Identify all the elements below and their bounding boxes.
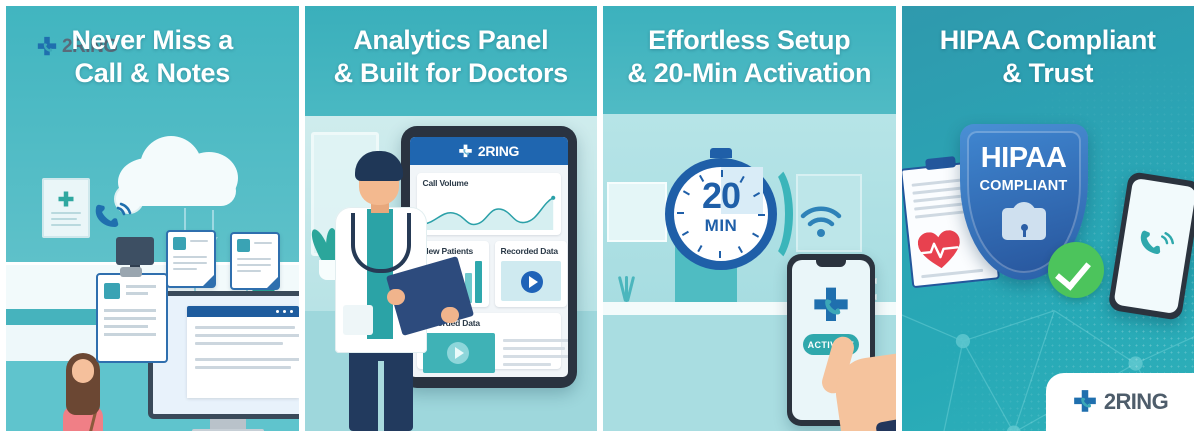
- panel-title-line1: HIPAA Compliant: [940, 25, 1156, 55]
- phone-ringing-icon: [1134, 226, 1177, 266]
- shield-subtitle: COMPLIANT: [960, 178, 1088, 194]
- ekg-line: [916, 229, 962, 271]
- feature-banner: 2RING: [0, 0, 1200, 437]
- footer-brand-badge: 2RING: [1046, 373, 1194, 431]
- green-check-icon: [1048, 242, 1104, 298]
- patient-record-clipboard: [96, 273, 168, 363]
- phone-ringing-icon: [92, 202, 132, 236]
- tablet-brand-text: 2RING: [478, 143, 519, 159]
- timer-value: 20: [665, 178, 777, 214]
- medical-cross-phone-icon: [1072, 389, 1098, 415]
- medical-cross-phone-icon: [458, 144, 473, 159]
- padlock-icon: [1002, 202, 1046, 240]
- patient-record-card: [166, 230, 216, 288]
- panel-hipaa-compliant: HIPAA COMPLIANT HIPAA Compliant & Trust …: [902, 6, 1195, 431]
- panel-title-line2: & Trust: [908, 57, 1189, 90]
- desk-monitor-icon: [116, 237, 154, 265]
- play-button-icon[interactable]: [521, 271, 543, 293]
- wall-poster-icon: [42, 178, 90, 238]
- panel-title-hipaa: HIPAA Compliant & Trust: [902, 24, 1195, 90]
- panel-title-effortless: Effortless Setup & 20-Min Activation: [603, 24, 896, 90]
- stopwatch-icon: 20 MIN: [665, 158, 777, 270]
- panel-title-line2: Call & Notes: [12, 57, 293, 90]
- panel-never-miss-a-call: 2RING: [6, 6, 299, 431]
- panel-effortless-setup: 20 MIN ACTIVATE: [603, 6, 896, 431]
- medical-cross-phone-icon: [811, 286, 851, 326]
- desktop-monitor: [148, 291, 299, 419]
- wifi-icon: [799, 202, 843, 240]
- card-recorded-data[interactable]: Recorded Data: [495, 241, 567, 307]
- panel-title-line1: Effortless Setup: [648, 25, 850, 55]
- panel-title-line1: Never Miss a: [72, 25, 234, 55]
- panel-title-never-miss: Never Miss a Call & Notes: [6, 24, 299, 90]
- card-title: Recorded Data: [495, 241, 567, 256]
- panel-title-line1: Analytics Panel: [353, 25, 548, 55]
- shield-title: HIPAA: [960, 144, 1088, 173]
- medical-cross-icon: [57, 190, 75, 208]
- heart-ekg-icon: [916, 229, 962, 271]
- wall-frame-icon: [607, 182, 667, 242]
- stethoscope-icon: [351, 213, 411, 273]
- doctor-illustration: [315, 139, 447, 431]
- panel-title-line2: & Built for Doctors: [311, 57, 592, 90]
- patient-record-card: [230, 232, 280, 290]
- panel-title-line2: & 20-Min Activation: [609, 57, 890, 90]
- panel-analytics: 2RING Call Volume New Patients: [305, 6, 598, 431]
- panel-title-analytics: Analytics Panel & Built for Doctors: [305, 24, 598, 90]
- cloud-icon: [118, 132, 242, 206]
- pointing-hand-icon: [819, 332, 896, 431]
- pen-holder-icon: [619, 272, 633, 302]
- footer-brand-text: 2RING: [1104, 389, 1168, 415]
- play-button-icon[interactable]: [447, 342, 469, 364]
- timer-unit: MIN: [665, 216, 777, 236]
